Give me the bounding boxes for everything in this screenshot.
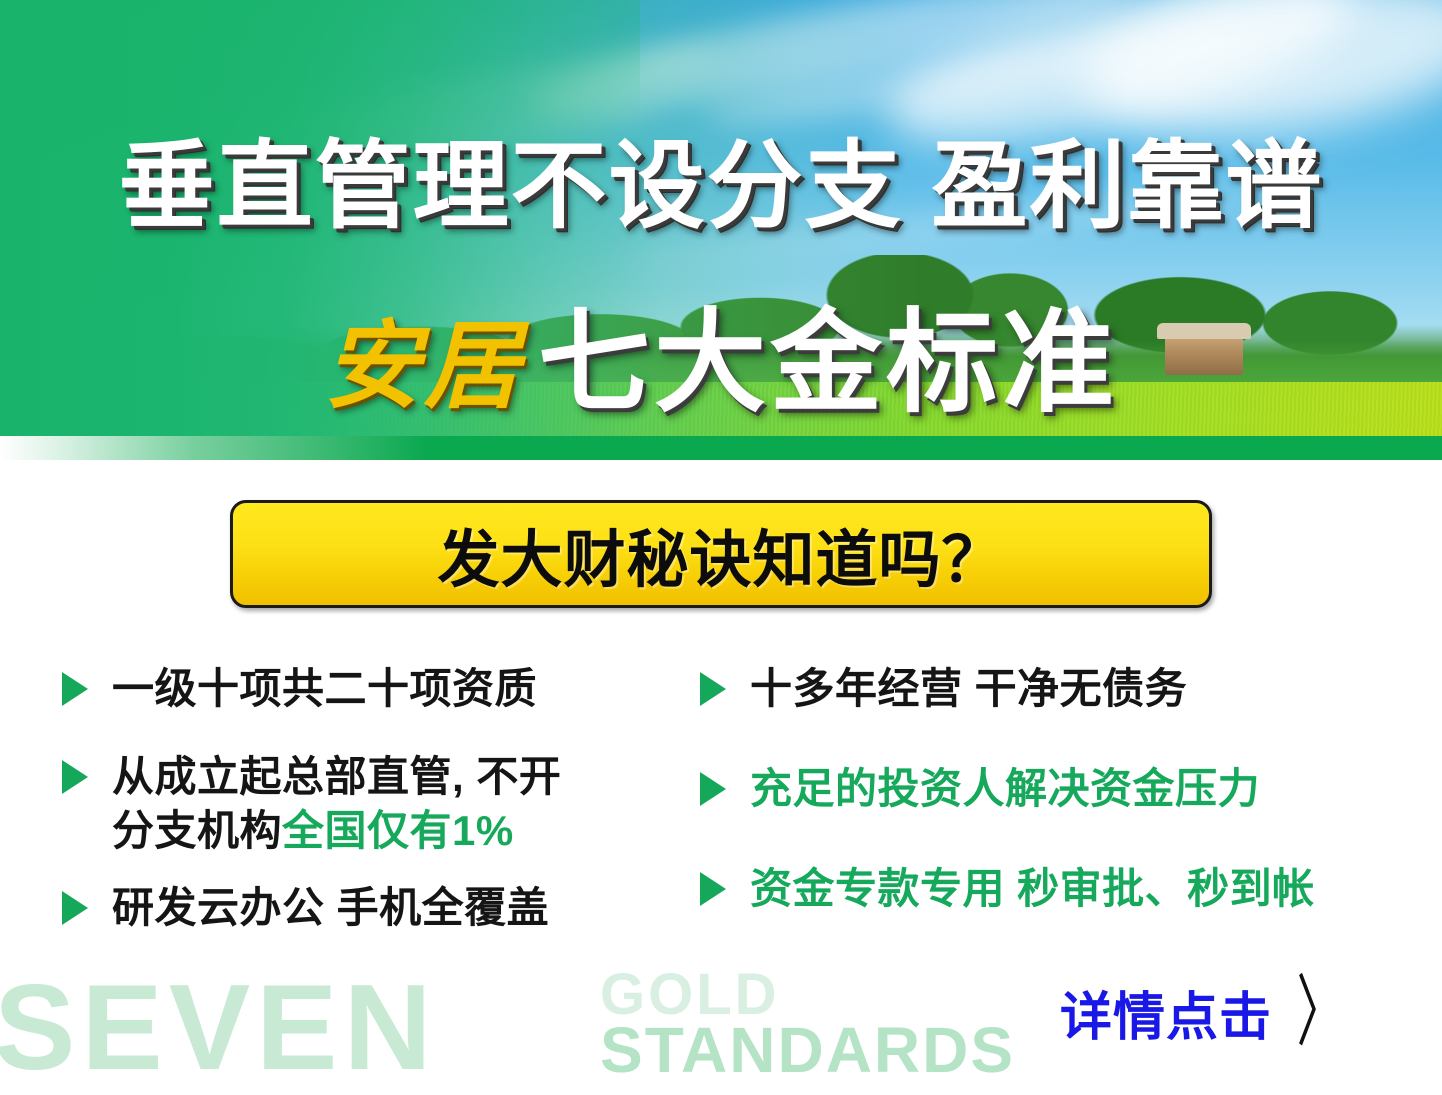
triangle-right-icon (62, 672, 88, 706)
hero-headline-primary: 垂直管理不设分支 盈利靠谱 (0, 108, 1442, 247)
feature-item-label: 研发云办公 手机全覆盖 (112, 881, 549, 935)
hero-banner: 垂直管理不设分支 盈利靠谱 安居七大金标准 (0, 0, 1442, 460)
feature-item-line2-highlight: 全国仅有1% (282, 807, 514, 854)
brand-name-anju: 安居 (324, 313, 524, 420)
feature-column-left: 一级十项共二十项资质 从成立起总部直管, 不开 分支机构全国仅有1% 研发云办公… (62, 662, 702, 963)
triangle-right-icon (700, 672, 726, 706)
feature-item-label: 充足的投资人解决资金压力 (750, 762, 1260, 816)
feature-column-right: 十多年经营 干净无债务 充足的投资人解决资金压力 资金专款专用 秒审批、秒到帐 (700, 662, 1430, 943)
feature-item-line2-plain: 分支机构 (112, 807, 282, 854)
triangle-right-icon (62, 891, 88, 925)
feature-item: 从成立起总部直管, 不开 分支机构全国仅有1% (62, 750, 702, 858)
feature-item-line1: 从成立起总部直管, 不开 (112, 753, 561, 800)
highlight-banner-wrapper: 发大财秘诀知道吗？ (230, 500, 1212, 608)
feature-item: 研发云办公 手机全覆盖 (62, 881, 702, 935)
triangle-right-icon (700, 872, 726, 906)
details-cta-label: 详情点击 (1060, 975, 1272, 1050)
feature-item: 资金专款专用 秒审批、秒到帐 (700, 862, 1430, 916)
feature-item: 一级十项共二十项资质 (62, 662, 702, 716)
feature-list: 一级十项共二十项资质 从成立起总部直管, 不开 分支机构全国仅有1% 研发云办公… (0, 662, 1442, 992)
chevron-right-icon: 〉 (1297, 974, 1344, 1052)
feature-item-label: 从成立起总部直管, 不开 分支机构全国仅有1% (112, 750, 561, 858)
highlight-banner-text: 发大财秘诀知道吗？ (437, 509, 1004, 599)
hero-bottom-bar-fade (0, 436, 430, 460)
highlight-banner[interactable]: 发大财秘诀知道吗？ (230, 500, 1212, 608)
watermark-standards: STANDARDS (600, 1018, 1015, 1082)
feature-item-label: 资金专款专用 秒审批、秒到帐 (750, 862, 1315, 916)
details-cta-link[interactable]: 详情点击 〉 (1060, 975, 1346, 1050)
triangle-right-icon (700, 772, 726, 806)
triangle-right-icon (62, 760, 88, 794)
feature-item: 充足的投资人解决资金压力 (700, 762, 1430, 816)
feature-item-label: 十多年经营 干净无债务 (750, 662, 1187, 716)
hero-headline-secondary-main: 七大金标准 (538, 300, 1118, 425)
feature-item: 十多年经营 干净无债务 (700, 662, 1430, 716)
feature-item-label: 一级十项共二十项资质 (112, 662, 537, 716)
hero-headline-secondary: 安居七大金标准 (0, 272, 1442, 434)
